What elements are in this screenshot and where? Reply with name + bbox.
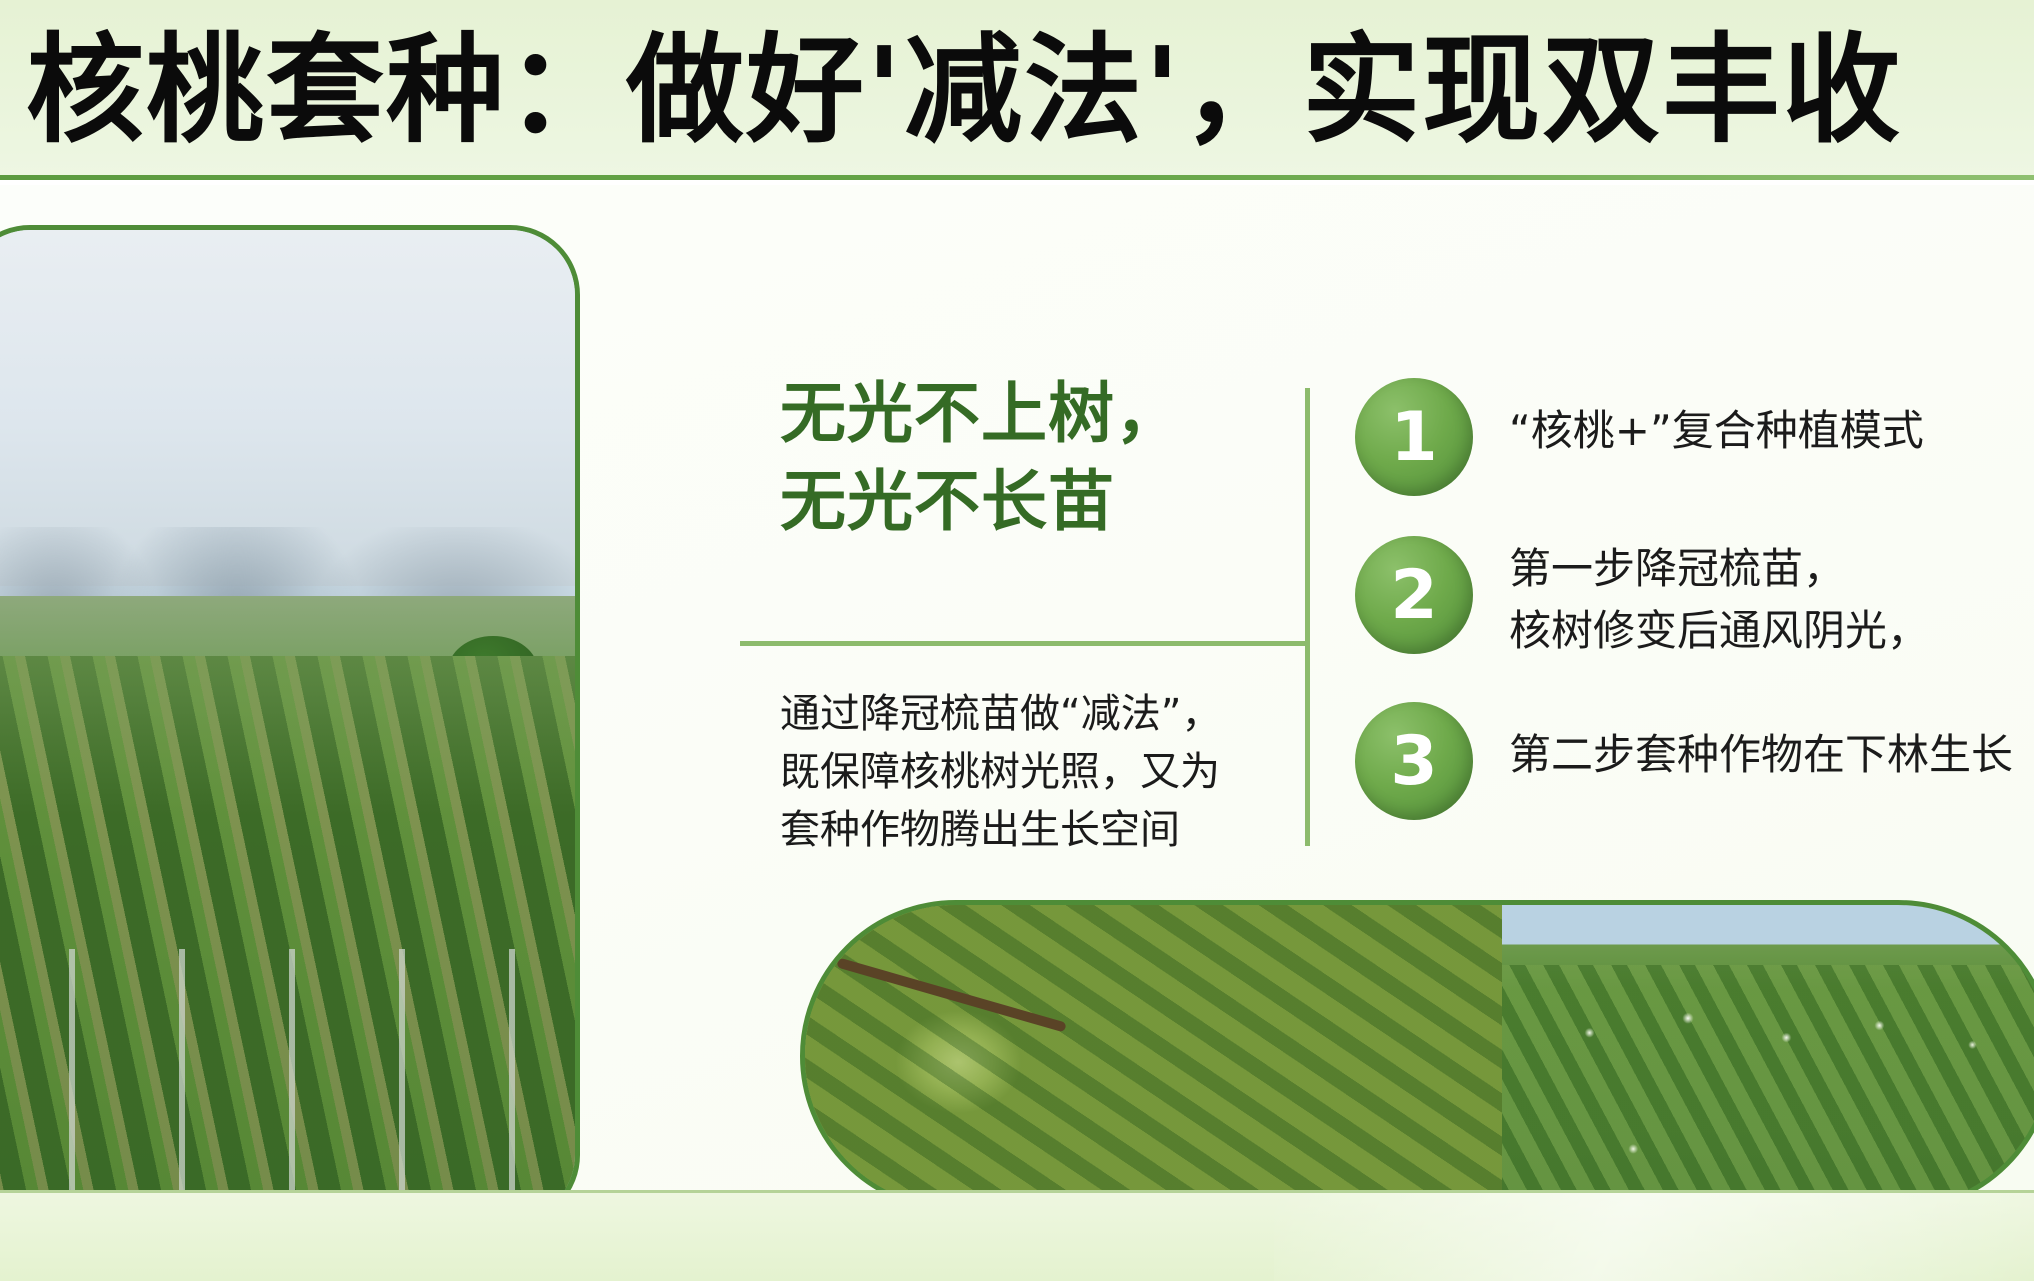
footer-sheen (1274, 1193, 2034, 1281)
list-item: 1 “核桃+”复合种植模式 (1355, 378, 2034, 496)
step-number-badge: 2 (1355, 536, 1473, 654)
potato-field-region (1502, 905, 2034, 1207)
orchard-tree-rows (0, 656, 575, 1220)
title-band: 核桃套种：做好'减法'，实现双丰收 (0, 0, 2034, 180)
list-item: 2 第一步降冠梳苗， 核树修变后通风阴光， (1355, 536, 2034, 662)
vertical-divider (1305, 388, 1310, 846)
slide-root: 核桃套种：做好'减法'，实现双丰收 无光不上树， 无光不长苗 通过降冠梳苗做“减… (0, 0, 2034, 1281)
walnut-and-crop-photo (800, 900, 2034, 1212)
step-label: “核桃+”复合种植模式 (1509, 378, 1924, 462)
page-title: 核桃套种：做好'减法'，实现双丰收 (26, 18, 1902, 163)
steps-list: 1 “核桃+”复合种植模式 2 第一步降冠梳苗， 核树修变后通风阴光， 3 第二… (1355, 378, 2034, 860)
orchard-aerial-photo (0, 225, 580, 1225)
slogan-block: 无光不上树， 无光不长苗 (780, 370, 1290, 546)
slogan-text: 无光不上树， 无光不长苗 (780, 370, 1290, 546)
orchard-support-poles (0, 949, 575, 1220)
walnut-fruit-region (805, 905, 1502, 1207)
step-number-badge: 3 (1355, 702, 1473, 820)
horizontal-divider (740, 641, 1310, 646)
footer-band (0, 1190, 2034, 1281)
step-label: 第二步套种作物在下林生长 (1509, 702, 2013, 786)
step-label: 第一步降冠梳苗， 核树修变后通风阴光， (1509, 536, 1929, 662)
description-text: 通过降冠梳苗做“减法”， 既保障核桃树光照，又为 套种作物腾出生长空间 (780, 685, 1300, 859)
step-number-badge: 1 (1355, 378, 1473, 496)
list-item: 3 第二步套种作物在下林生长 (1355, 702, 2034, 820)
